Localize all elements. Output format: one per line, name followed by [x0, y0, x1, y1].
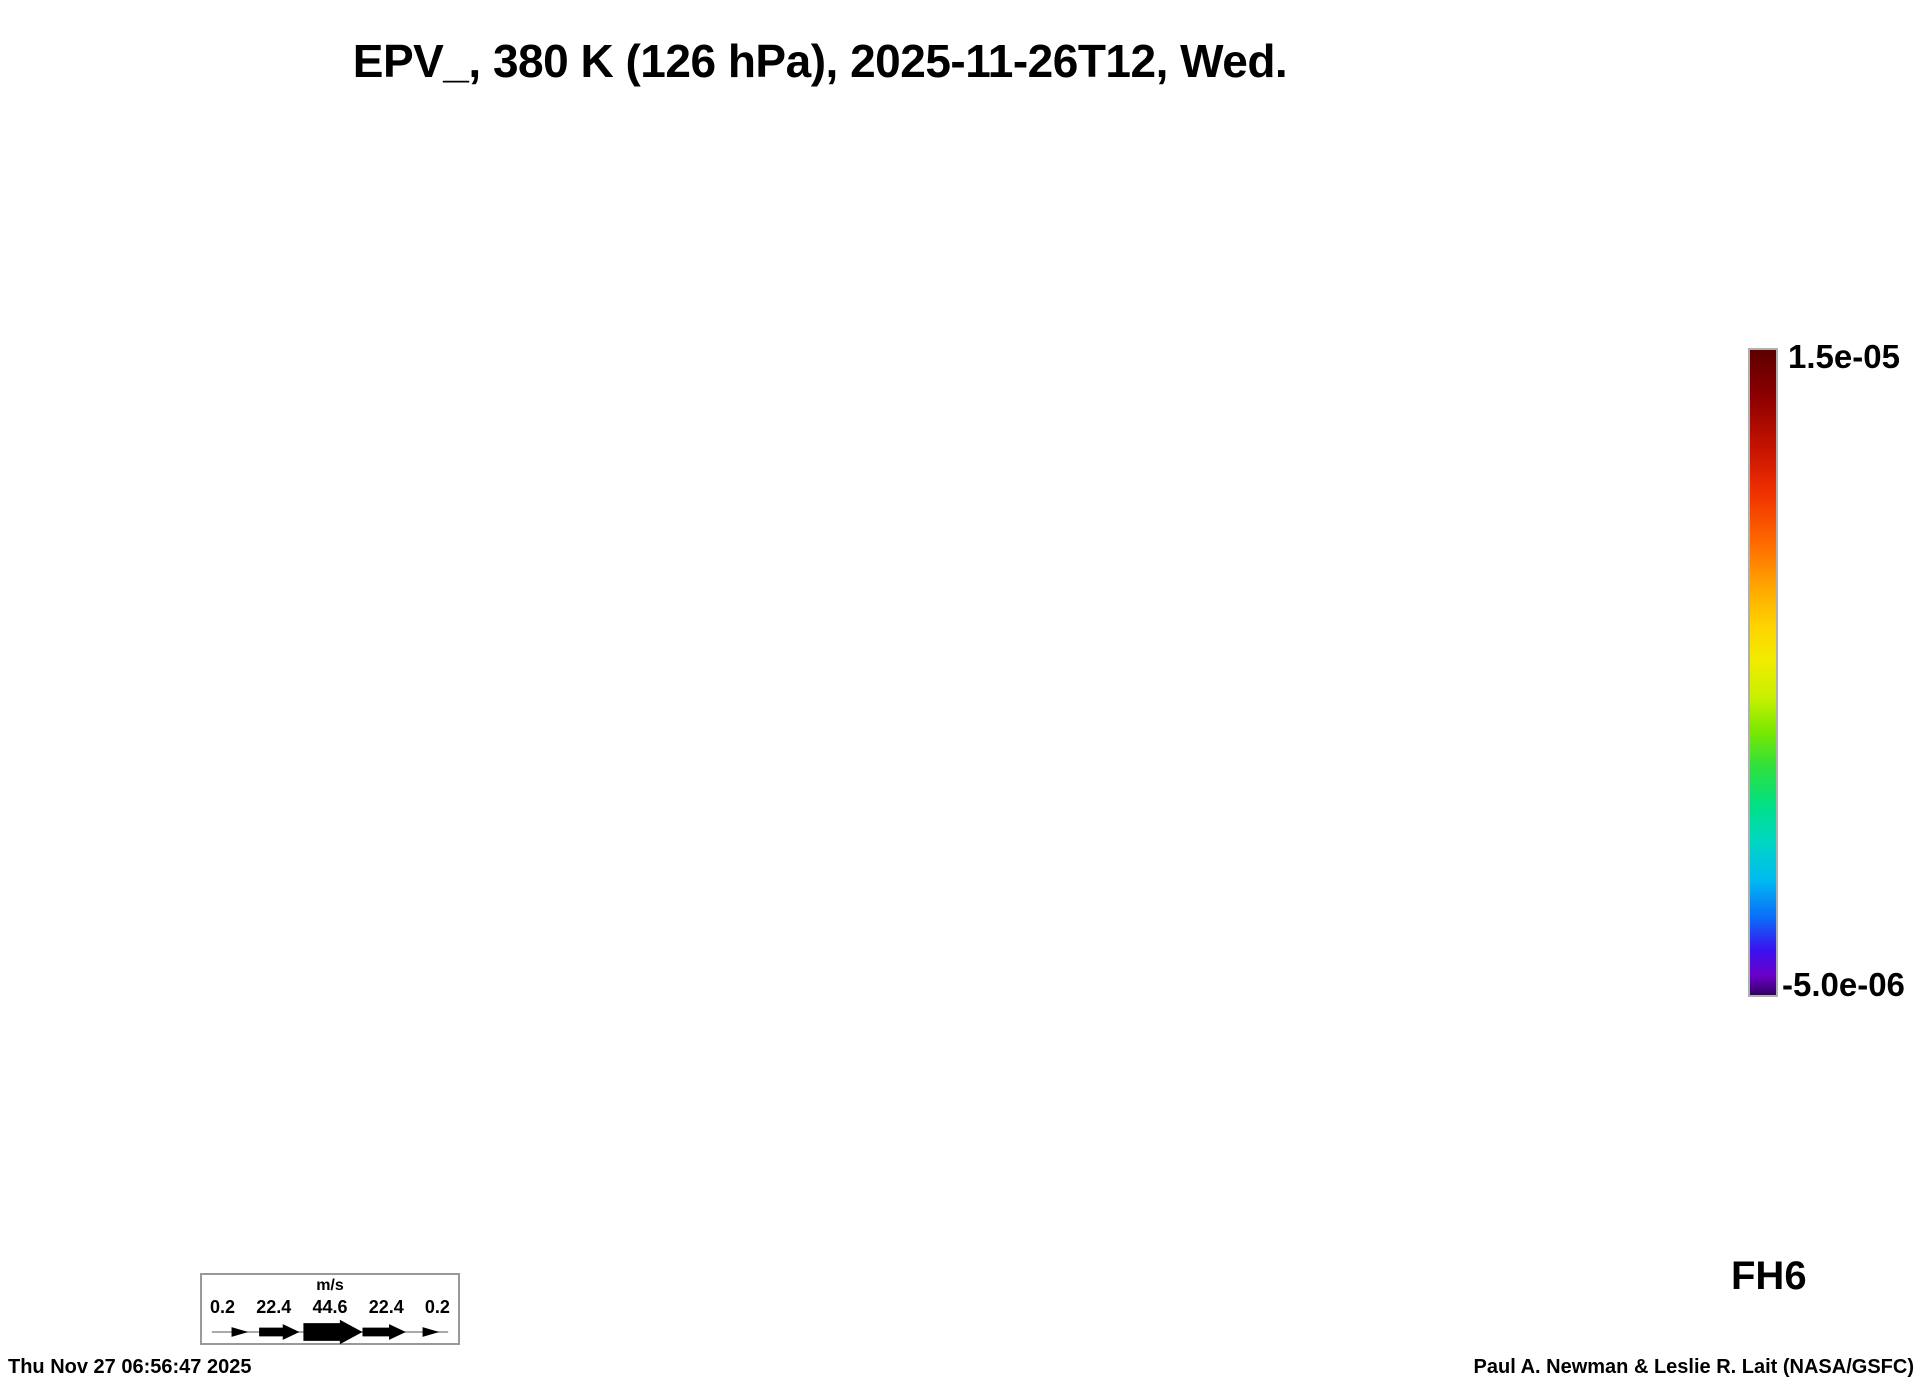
colorbar-gradient	[1748, 348, 1778, 997]
wind-legend-value-4: 0.2	[425, 1297, 450, 1318]
page-title: EPV_, 380 K (126 hPa), 2025-11-26T12, We…	[0, 34, 1640, 88]
wind-legend-value-1: 22.4	[256, 1297, 291, 1318]
wind-legend-value-3: 22.4	[369, 1297, 404, 1318]
colorbar: 1.5e-05 -5.0e-06	[1742, 338, 1922, 1003]
author-credit: Paul A. Newman & Leslie R. Lait (NASA/GS…	[1474, 1356, 1914, 1379]
colorbar-max-label: 1.5e-05	[1788, 338, 1900, 376]
wind-legend-arrow-icons	[202, 1319, 458, 1345]
wind-legend-units: m/s	[202, 1277, 458, 1295]
wind-speed-legend: m/s 0.2 22.4 44.6 22.4 0.2	[200, 1273, 460, 1345]
epv-field-canvas	[110, 100, 1530, 1040]
generation-timestamp: Thu Nov 27 06:56:47 2025	[8, 1356, 251, 1379]
wind-legend-value-0: 0.2	[210, 1297, 235, 1318]
colorbar-min-label: -5.0e-06	[1782, 966, 1905, 1004]
map-plot-area	[110, 100, 1530, 1040]
wind-legend-value-2: 44.6	[312, 1297, 347, 1318]
forecast-hour-label: FH6	[1731, 1254, 1807, 1299]
wind-legend-values: 0.2 22.4 44.6 22.4 0.2	[202, 1297, 458, 1318]
